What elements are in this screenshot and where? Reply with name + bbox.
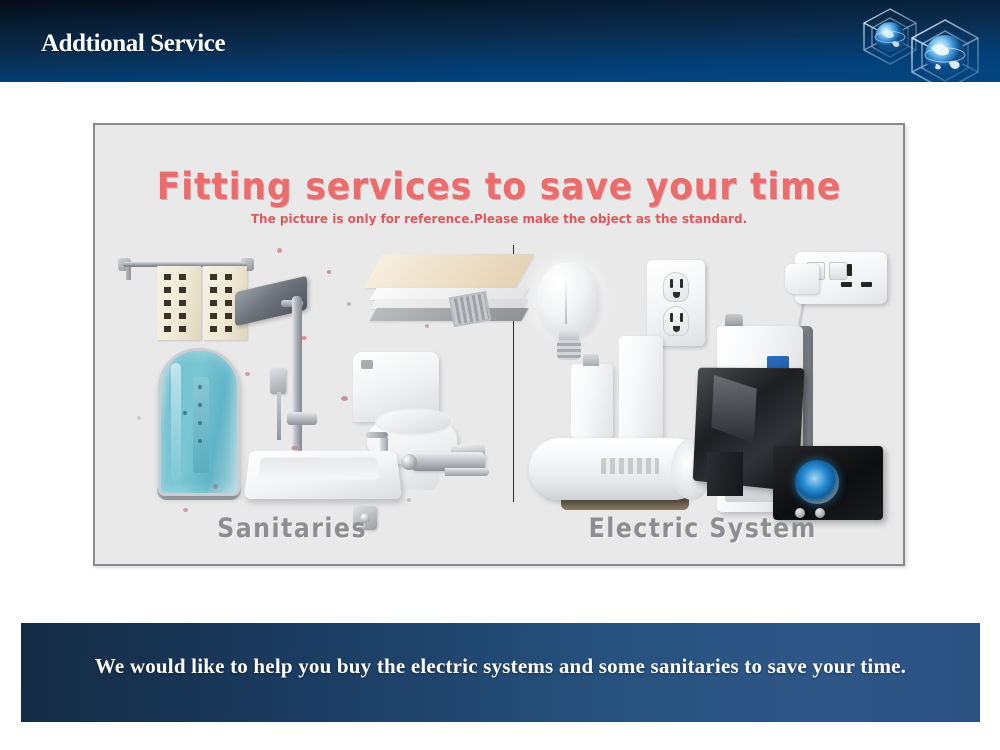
hero-subtitle: The picture is only for reference.Please… bbox=[111, 211, 887, 226]
faucet-inlet bbox=[401, 454, 417, 470]
wash-basin bbox=[244, 451, 402, 499]
us-wall-outlet bbox=[647, 260, 705, 346]
bulb-screw-base bbox=[557, 340, 581, 360]
electric-water-heater-small bbox=[571, 364, 613, 438]
shower-mixer-valve bbox=[287, 412, 317, 425]
shower-enclosure bbox=[158, 348, 240, 496]
gas-hob bbox=[773, 446, 883, 520]
category-label-sanitaries: Sanitaries bbox=[217, 513, 367, 544]
bulb-filament bbox=[565, 280, 567, 324]
page-title: Addtional Service bbox=[41, 30, 225, 58]
globe-hexagon-icon-large bbox=[900, 14, 990, 82]
category-label-electric-system: Electric System bbox=[589, 513, 817, 544]
bottom-banner: We would like to help you buy the electr… bbox=[21, 623, 980, 722]
range-hood-chimney bbox=[707, 452, 743, 496]
toilet-flush-button bbox=[361, 360, 373, 369]
plug bbox=[785, 264, 819, 294]
light-bulb bbox=[537, 262, 599, 336]
content-panel: Fitting services to save your time The p… bbox=[93, 123, 905, 566]
electric-water-heater-tall bbox=[619, 336, 663, 454]
slide-page: Addtional Service bbox=[0, 0, 1000, 750]
banner-text: We would like to help you buy the electr… bbox=[21, 654, 980, 679]
product-illustration-stage bbox=[95, 240, 903, 520]
page-header: Addtional Service bbox=[0, 0, 1000, 82]
header-logo-group bbox=[840, 0, 1000, 82]
faucet-spout bbox=[445, 468, 489, 476]
water-heater-control-panel bbox=[601, 458, 659, 474]
towel bbox=[157, 266, 201, 340]
hero-title: Fitting services to save your time bbox=[123, 165, 874, 208]
shower-hose bbox=[277, 392, 281, 440]
hand-shower bbox=[270, 368, 286, 394]
hob-burner-flame bbox=[795, 460, 839, 504]
towel-rack-post bbox=[126, 267, 131, 280]
